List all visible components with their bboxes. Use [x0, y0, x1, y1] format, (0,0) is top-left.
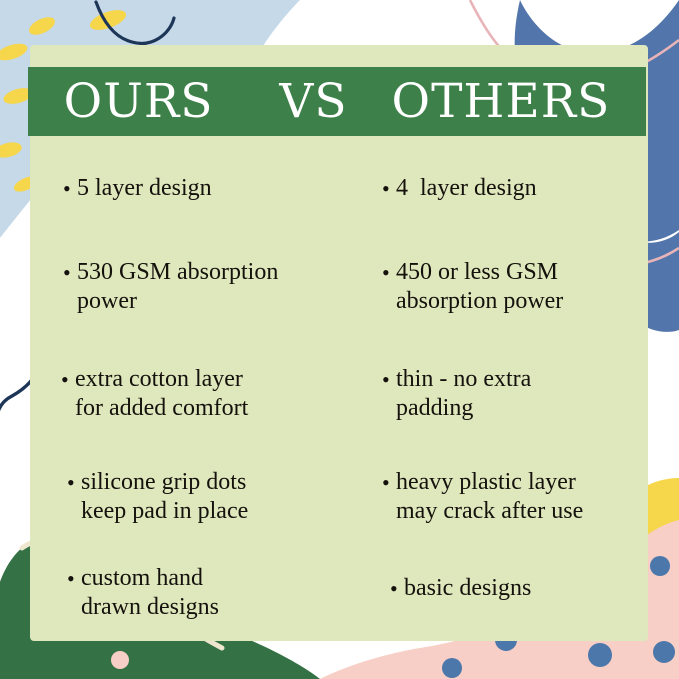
- header-label-others: OTHERS: [392, 78, 611, 125]
- bullet-icon: •: [382, 174, 396, 204]
- bullet-icon: •: [61, 365, 75, 395]
- list-item: • silicone grip dots keep pad in place: [67, 468, 248, 526]
- list-item: • 5 layer design: [63, 174, 212, 204]
- list-item: • heavy plastic layer may crack after us…: [382, 468, 583, 526]
- list-item: • 530 GSM absorption power: [63, 258, 278, 316]
- bullet-icon: •: [63, 174, 77, 204]
- list-item: • extra cotton layer for added comfort: [61, 365, 248, 423]
- column-others: • 4 layer design • 450 or less GSM absor…: [368, 160, 638, 650]
- bullet-icon: •: [382, 365, 396, 395]
- column-ours: • 5 layer design • 530 GSM absorption po…: [55, 160, 355, 650]
- list-item: • 4 layer design: [382, 174, 537, 204]
- list-item-text: 530 GSM absorption power: [77, 258, 278, 316]
- bullet-icon: •: [67, 468, 81, 498]
- list-item-text: extra cotton layer for added comfort: [75, 365, 248, 423]
- bullet-icon: •: [390, 574, 404, 604]
- bullet-icon: •: [67, 564, 81, 594]
- bullet-icon: •: [382, 258, 396, 288]
- list-item-text: silicone grip dots keep pad in place: [81, 468, 248, 526]
- bullet-icon: •: [382, 468, 396, 498]
- list-item-text: basic designs: [404, 574, 531, 603]
- pink-accent-dot: [111, 651, 129, 669]
- list-item: • thin - no extra padding: [382, 365, 531, 423]
- comparison-columns: • 5 layer design • 530 GSM absorption po…: [30, 160, 648, 650]
- list-item-text: 450 or less GSM absorption power: [396, 258, 563, 316]
- list-item-text: custom hand drawn designs: [81, 564, 219, 622]
- list-item: • basic designs: [390, 574, 531, 604]
- list-item-text: 4 layer design: [396, 174, 537, 203]
- list-item: • 450 or less GSM absorption power: [382, 258, 563, 316]
- infographic-canvas: OURS VS OTHERS • 5 layer design • 530 GS…: [0, 0, 679, 679]
- comparison-header: OURS VS OTHERS: [28, 67, 646, 136]
- list-item: • custom hand drawn designs: [67, 564, 219, 622]
- bullet-icon: •: [63, 258, 77, 288]
- list-item-text: thin - no extra padding: [396, 365, 531, 423]
- header-label-ours: OURS: [64, 78, 214, 125]
- header-label-vs: VS: [279, 78, 347, 125]
- list-item-text: heavy plastic layer may crack after use: [396, 468, 583, 526]
- list-item-text: 5 layer design: [77, 174, 212, 203]
